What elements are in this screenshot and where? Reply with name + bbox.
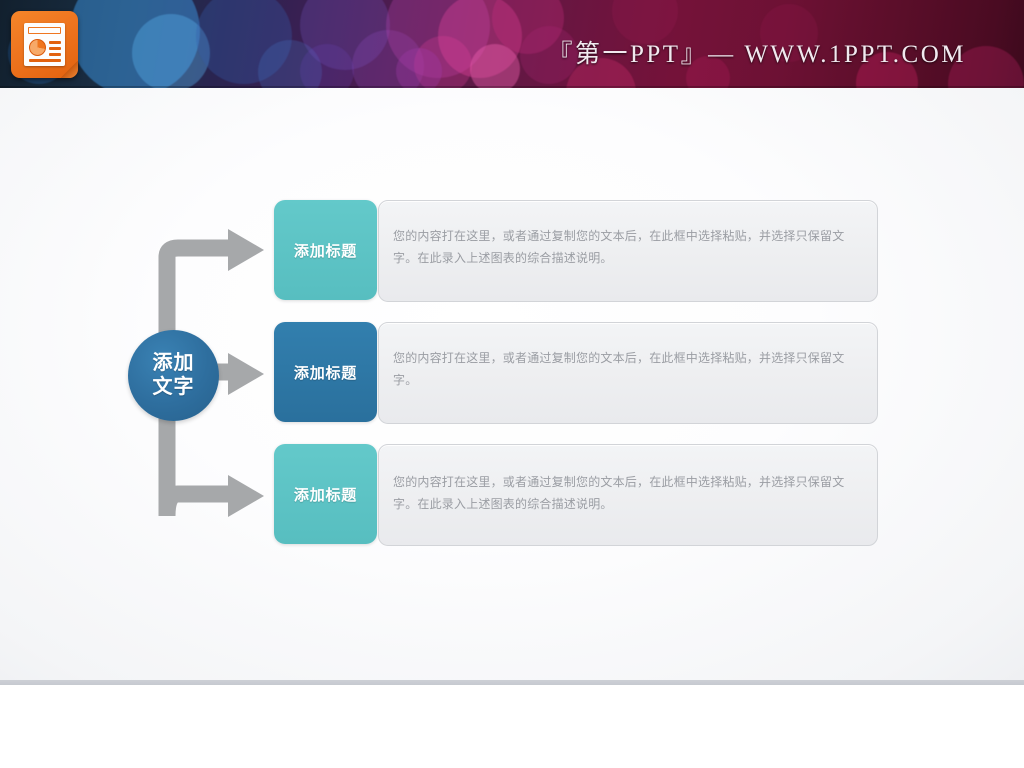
arrow-head-top <box>228 229 264 271</box>
arrow-branch-top <box>167 248 231 257</box>
row-content-box-3[interactable]: 您的内容打在这里，或者通过复制您的文本后，在此框中选择粘贴，并选择只保留文字。在… <box>378 444 878 546</box>
powerpoint-icon-document <box>24 23 65 66</box>
powerpoint-icon-header-bar <box>28 27 61 34</box>
row-title-label-3: 添加标题 <box>294 484 357 505</box>
row-title-box-3[interactable]: 添加标题 <box>274 444 377 544</box>
arrow-head-bottom <box>228 475 264 517</box>
arrow-branch-bottom <box>167 494 231 516</box>
powerpoint-icon-line <box>49 53 61 56</box>
header-banner: 『第一PPT』— WWW.1PPT.COM <box>0 0 1024 88</box>
slide-canvas: 添加 文字 添加标题 您的内容打在这里，或者通过复制您的文本后，在此框中选择粘贴… <box>0 88 1024 685</box>
row-title-box-2[interactable]: 添加标题 <box>274 322 377 422</box>
slide-page: 『第一PPT』— WWW.1PPT.COM <box>0 0 1024 768</box>
footer-bar: 第一PPT HTTP://WWW.1PPT.COM <box>0 685 1024 768</box>
powerpoint-icon-line <box>49 47 61 50</box>
row-title-label-2: 添加标题 <box>294 362 357 383</box>
center-node[interactable]: 添加 文字 <box>128 330 219 421</box>
powerpoint-icon-line <box>29 59 61 62</box>
header-caption: 『第一PPT』— WWW.1PPT.COM <box>547 34 966 70</box>
row-body-text-3: 您的内容打在这里，或者通过复制您的文本后，在此框中选择粘贴，并选择只保留文字。在… <box>393 471 865 515</box>
arrow-head-middle <box>228 353 264 395</box>
row-title-label-1: 添加标题 <box>294 240 357 261</box>
row-content-box-2[interactable]: 您的内容打在这里，或者通过复制您的文本后，在此框中选择粘贴，并选择只保留文字。 <box>378 322 878 424</box>
powerpoint-icon[interactable] <box>11 11 78 78</box>
process-diagram: 添加 文字 添加标题 您的内容打在这里，或者通过复制您的文本后，在此框中选择粘贴… <box>0 88 1024 685</box>
powerpoint-icon-line <box>49 41 61 44</box>
row-body-text-2: 您的内容打在这里，或者通过复制您的文本后，在此框中选择粘贴，并选择只保留文字。 <box>393 347 865 391</box>
row-title-box-1[interactable]: 添加标题 <box>274 200 377 300</box>
center-node-line1: 添加 <box>153 352 195 376</box>
row-content-box-1[interactable]: 您的内容打在这里，或者通过复制您的文本后，在此框中选择粘贴，并选择只保留文字。在… <box>378 200 878 302</box>
center-node-line2: 文字 <box>153 376 195 400</box>
bokeh-circle <box>396 48 442 88</box>
row-body-text-1: 您的内容打在这里，或者通过复制您的文本后，在此框中选择粘贴，并选择只保留文字。在… <box>393 225 865 269</box>
powerpoint-icon-pie <box>29 39 46 56</box>
